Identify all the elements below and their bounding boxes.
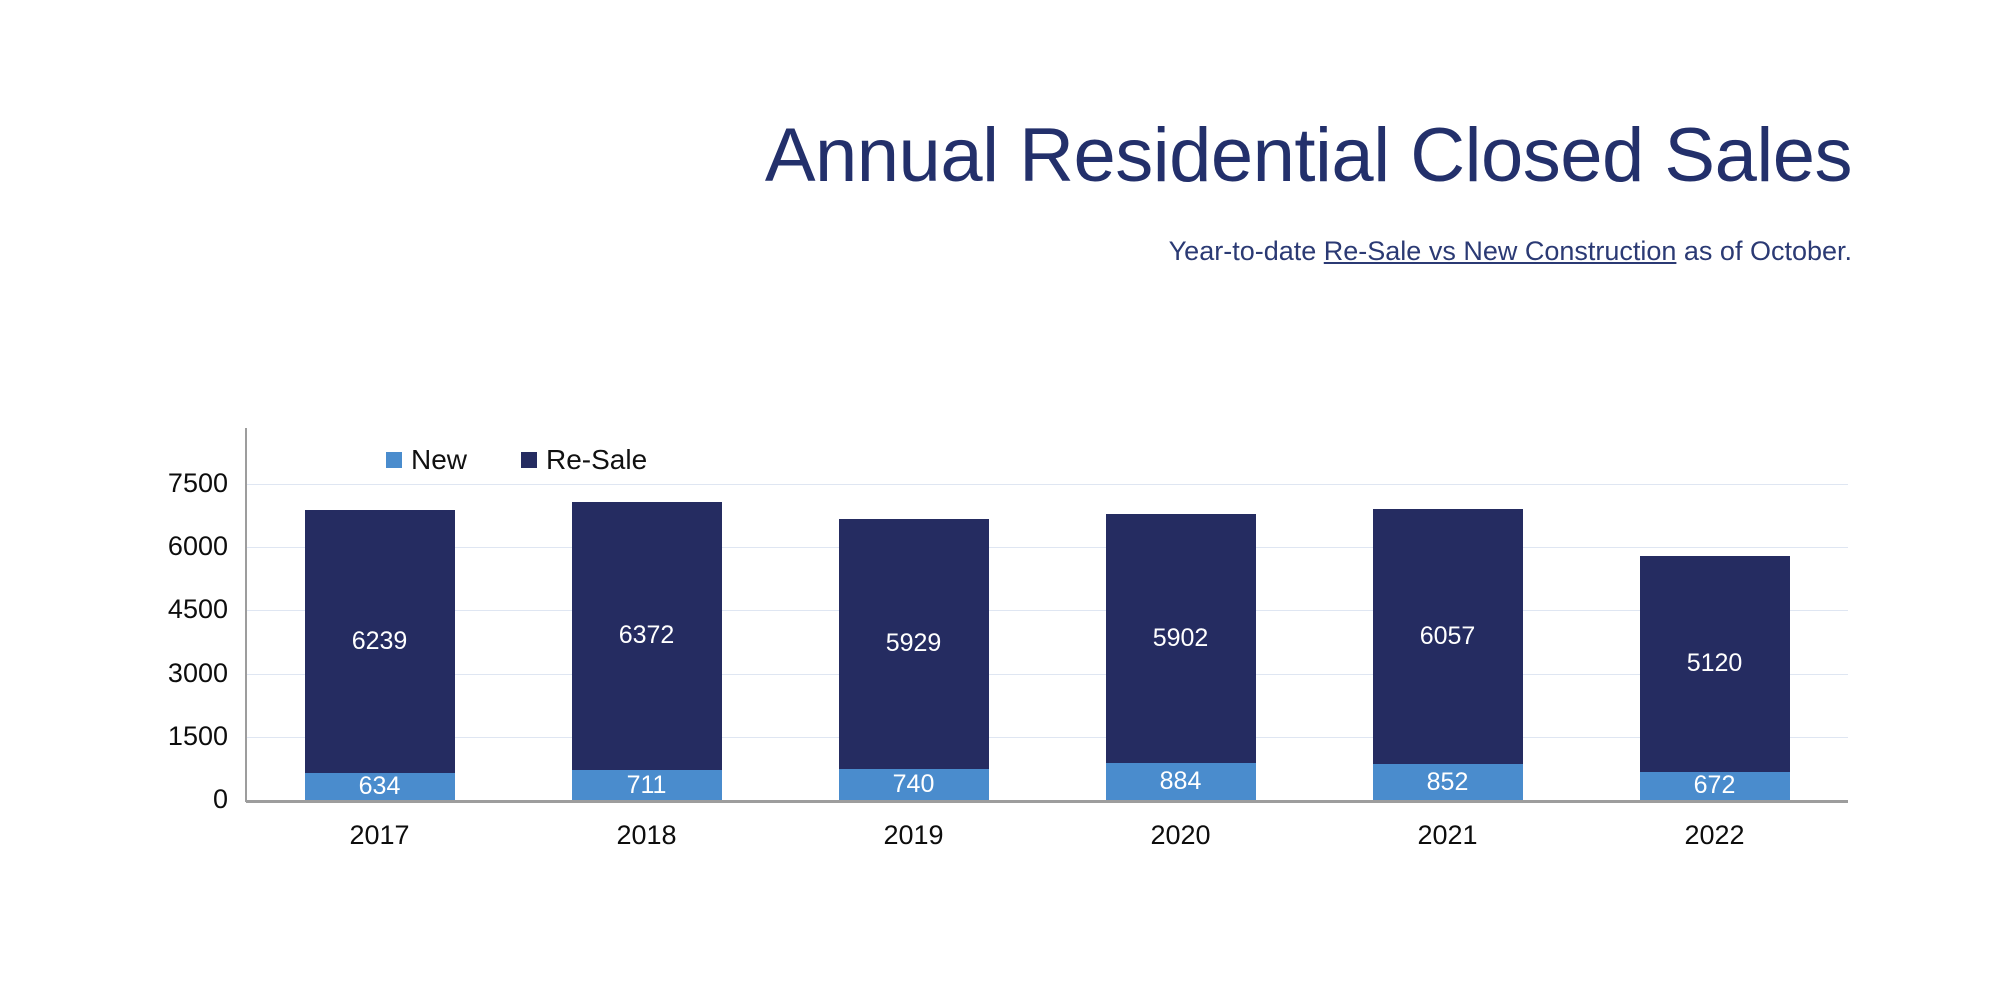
y-axis-tick-labels: 750060004500300015000	[0, 0, 228, 1000]
bar-segment-resale[interactable]: 5929	[839, 519, 989, 769]
y-axis-tick-label: 7500	[168, 470, 228, 497]
bar-stack[interactable]: 5929740	[839, 519, 989, 800]
bar-value-label-new: 711	[627, 773, 667, 798]
bar-value-label-resale: 6372	[619, 623, 675, 648]
legend-label: New	[411, 446, 467, 474]
bar-group-2021[interactable]: 6057852	[1314, 428, 1581, 800]
bar-segment-resale[interactable]: 6239	[305, 510, 455, 773]
x-axis-tick-label: 2017	[246, 822, 513, 866]
bar-segment-new[interactable]: 884	[1106, 763, 1256, 800]
x-axis-tick-label: 2021	[1314, 822, 1581, 866]
bar-value-label-resale: 6057	[1420, 624, 1476, 649]
bar-value-label-resale: 6239	[352, 629, 408, 654]
chart-legend: NewRe-Sale	[386, 446, 647, 474]
square-marker-icon	[521, 452, 537, 468]
bar-value-label-resale: 5120	[1687, 651, 1743, 676]
square-marker-icon	[386, 452, 402, 468]
legend-label: Re-Sale	[546, 446, 647, 474]
bar-segment-resale[interactable]: 5120	[1640, 556, 1790, 772]
y-axis-tick-label: 0	[213, 786, 228, 813]
bar-value-label-new: 884	[1160, 769, 1202, 794]
bar-value-label-resale: 5902	[1153, 626, 1209, 651]
bar-series-container: 6239634637271159297405902884605785251206…	[246, 428, 1848, 800]
bar-group-2020[interactable]: 5902884	[1047, 428, 1314, 800]
legend-item-new[interactable]: New	[386, 446, 467, 474]
x-axis-line	[246, 800, 1848, 803]
bar-segment-resale[interactable]: 5902	[1106, 514, 1256, 763]
bar-group-2019[interactable]: 5929740	[780, 428, 1047, 800]
bar-value-label-new: 634	[359, 774, 401, 799]
x-axis-tick-labels: 201720182019202020212022	[246, 822, 1848, 866]
x-axis-tick-label: 2020	[1047, 822, 1314, 866]
bar-stack[interactable]: 6057852	[1373, 509, 1523, 800]
y-axis-tick-label: 4500	[168, 596, 228, 623]
bar-stack[interactable]: 5120672	[1640, 556, 1790, 800]
bar-group-2018[interactable]: 6372711	[513, 428, 780, 800]
bar-segment-new[interactable]: 711	[572, 770, 722, 800]
bar-segment-new[interactable]: 634	[305, 773, 455, 800]
bar-group-2017[interactable]: 6239634	[246, 428, 513, 800]
bar-value-label-resale: 5929	[886, 631, 942, 656]
bar-segment-resale[interactable]: 6057	[1373, 509, 1523, 764]
bar-segment-new[interactable]: 852	[1373, 764, 1523, 800]
bar-value-label-new: 672	[1694, 773, 1736, 798]
bar-stack[interactable]: 6239634	[305, 510, 455, 800]
legend-item-re-sale[interactable]: Re-Sale	[521, 446, 647, 474]
x-axis-tick-label: 2019	[780, 822, 1047, 866]
bar-segment-resale[interactable]: 6372	[572, 502, 722, 770]
bar-stack[interactable]: 6372711	[572, 502, 722, 800]
x-axis-tick-label: 2022	[1581, 822, 1848, 866]
bar-segment-new[interactable]: 740	[839, 769, 989, 800]
y-axis-tick-label: 3000	[168, 660, 228, 687]
stacked-bar-chart: 750060004500300015000 623963463727115929…	[0, 0, 2000, 1000]
bar-value-label-new: 740	[893, 772, 935, 797]
bar-stack[interactable]: 5902884	[1106, 514, 1256, 800]
bar-segment-new[interactable]: 672	[1640, 772, 1790, 800]
x-axis-tick-label: 2018	[513, 822, 780, 866]
y-axis-tick-label: 1500	[168, 723, 228, 750]
bar-group-2022[interactable]: 5120672	[1581, 428, 1848, 800]
bar-value-label-new: 852	[1427, 770, 1469, 795]
y-axis-tick-label: 6000	[168, 533, 228, 560]
